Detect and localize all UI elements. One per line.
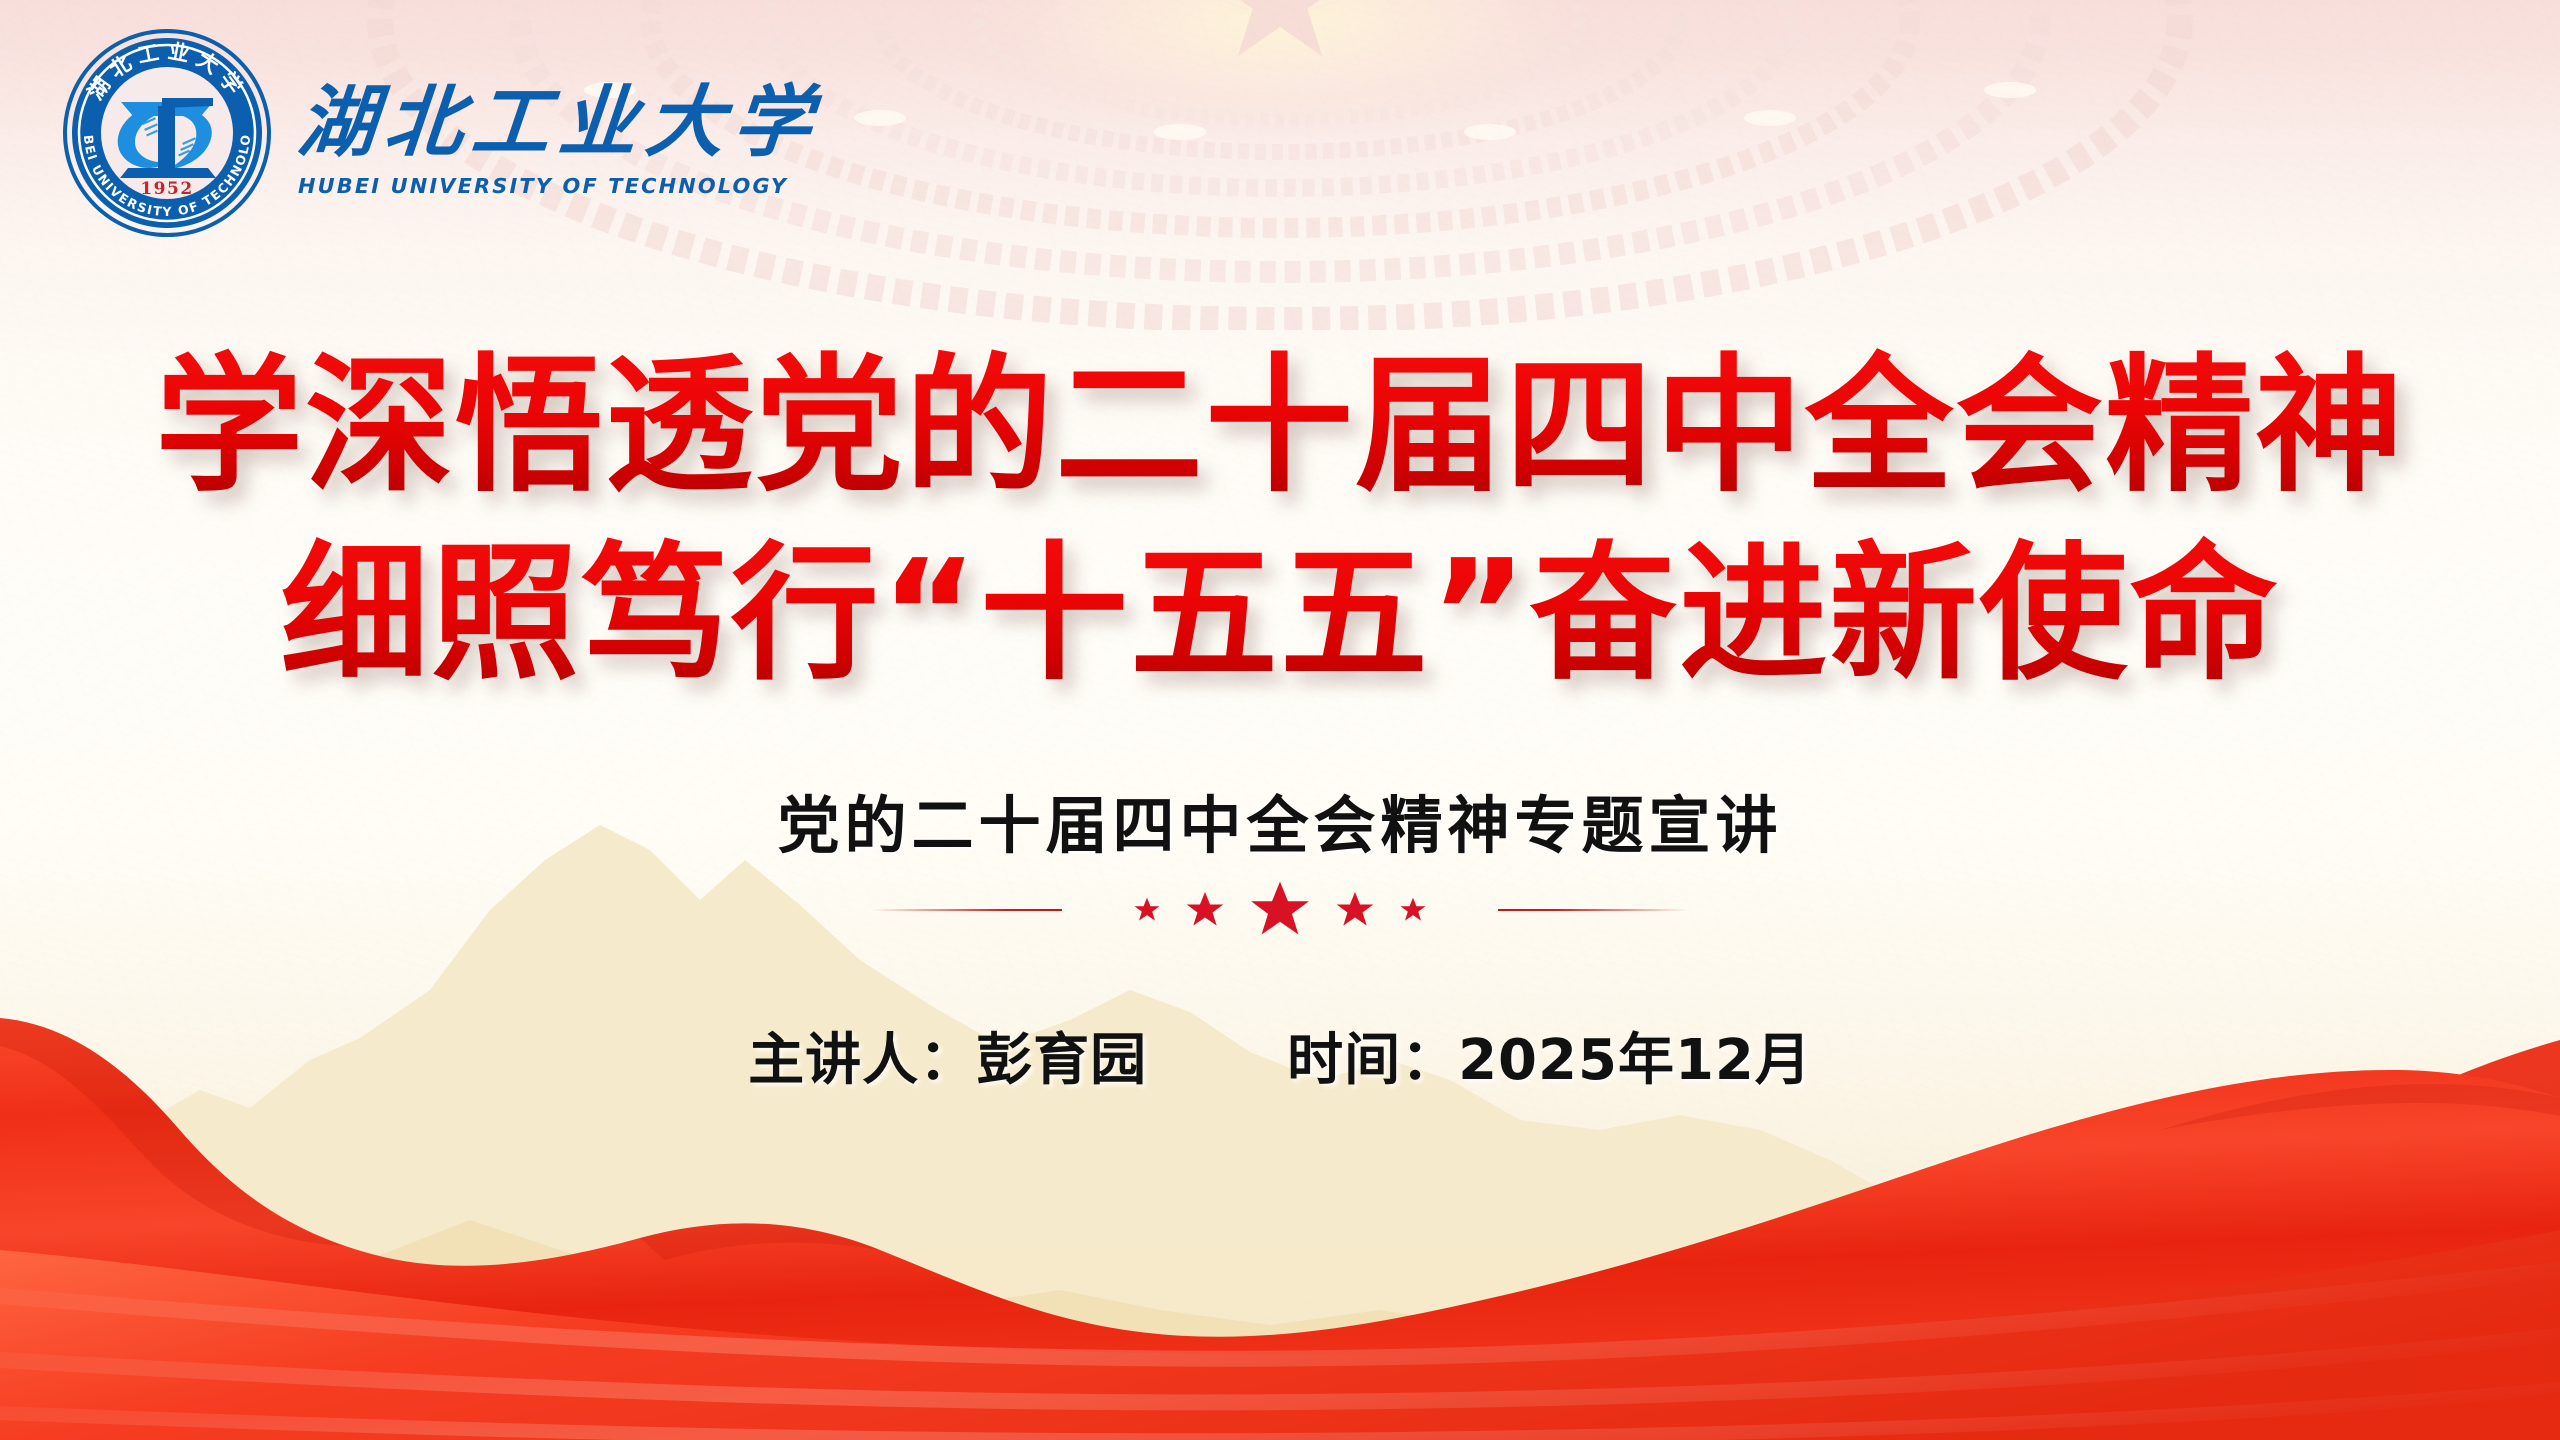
- university-name-en: HUBEI UNIVERSITY OF TECHNOLOGY: [298, 174, 830, 198]
- divider-rule-right: [1498, 909, 1688, 911]
- divider-rule-left: [872, 909, 1062, 911]
- divider-star-group: [1134, 880, 1426, 940]
- star-icon-large-center: [1250, 880, 1310, 940]
- university-logo-block[interactable]: 湖北工业大学 HUBEI UNIVERSITY OF TECHNOLOGY: [62, 28, 820, 238]
- university-wordmark: 湖北工业大学 HUBEI UNIVERSITY OF TECHNOLOGY: [298, 68, 820, 198]
- poster-canvas: 湖北工业大学 HUBEI UNIVERSITY OF TECHNOLOGY: [0, 0, 2560, 1440]
- page-subtitle: 党的二十届四中全会精神专题宣讲: [0, 775, 2560, 865]
- star-icon-small-right: [1400, 897, 1426, 923]
- star-icon-small-left: [1134, 897, 1160, 923]
- star-icon-medium-right: [1336, 891, 1374, 929]
- page-title: 学深悟透党的二十届四中全会精神 细照笃行“十五五”奋进新使命: [0, 330, 2560, 711]
- university-seal-icon: 湖北工业大学 HUBEI UNIVERSITY OF TECHNOLOGY: [62, 28, 272, 238]
- star-icon-medium-left: [1186, 891, 1224, 929]
- headline-line-2: 细照笃行“十五五”奋进新使命: [0, 518, 2560, 710]
- ceiling-star-icon: [1214, 0, 1347, 56]
- presenter-text: 主讲人：彭育园: [748, 1015, 1147, 1096]
- presentation-meta-row: 主讲人：彭育园 时间：2025年12月: [0, 1015, 2560, 1096]
- star-divider: [0, 880, 2560, 940]
- svg-text:1952: 1952: [140, 179, 193, 199]
- headline-line-1: 学深悟透党的二十届四中全会精神: [0, 330, 2560, 522]
- date-text: 时间：2025年12月: [1287, 1015, 1812, 1096]
- red-silk-ribbon-decoration: [0, 920, 2560, 1440]
- university-name-cn: 湖北工业大学: [295, 84, 824, 162]
